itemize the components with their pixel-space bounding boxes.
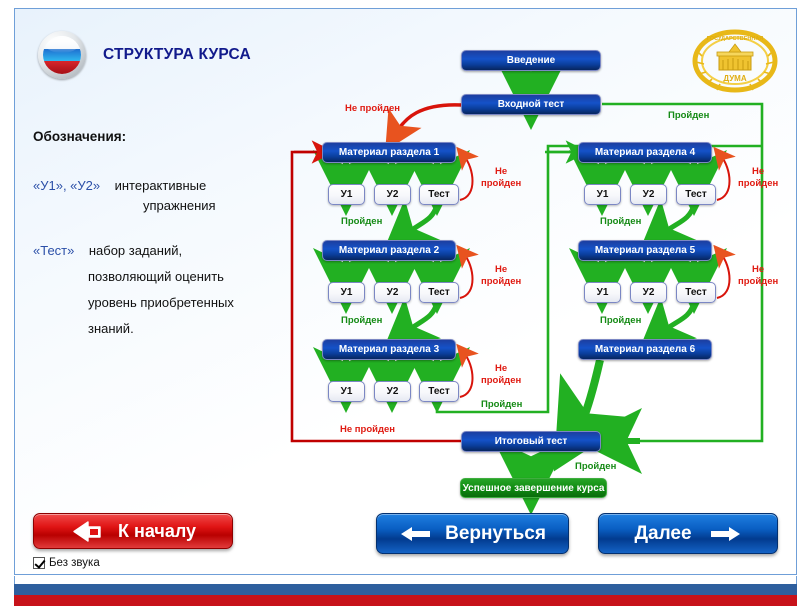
legend-item-2: «Тест» набор заданий,	[33, 243, 182, 258]
node-section-5-label: Материал раздела 5	[595, 245, 695, 256]
node-section-1[interactable]: Материал раздела 1	[322, 142, 456, 163]
sub-label: У2	[387, 189, 399, 200]
mute-checkbox[interactable]	[33, 557, 45, 569]
home-button[interactable]: К началу	[33, 513, 233, 549]
label-section-5-passed: Пройден	[600, 315, 641, 327]
page-title: СТРУКТУРА КУРСА	[103, 46, 251, 64]
node-section-2-label: Материал раздела 2	[339, 245, 439, 256]
slide-root: СТРУКТУРА КУРСА ГОСУДАРСТВЕННАЯ ДУМА Обо…	[0, 0, 811, 608]
label-text: Не	[752, 166, 764, 177]
node-success[interactable]: Успешное завершение курса	[460, 478, 607, 498]
sub-section-5-u1[interactable]: У1	[584, 282, 621, 303]
legend-item-2-text4: знаний.	[88, 321, 134, 336]
sub-label: У1	[341, 189, 353, 200]
label-text: Не	[752, 264, 764, 275]
sub-section-1-u1[interactable]: У1	[328, 184, 365, 205]
label-text: пройден	[481, 178, 521, 189]
label-text: Не	[495, 264, 507, 275]
sub-label: Тест	[428, 287, 450, 298]
sub-label: У1	[597, 189, 609, 200]
sub-section-2-test[interactable]: Тест	[419, 282, 459, 303]
label-section-1-failed: Не пройден	[481, 166, 521, 190]
label-section-1-passed: Пройден	[341, 216, 382, 228]
label-section-2-failed: Не пройден	[481, 264, 521, 288]
legend-item-1-text2: упражнения	[143, 198, 216, 213]
arrow-left-icon	[70, 520, 110, 542]
label-text: Пройден	[575, 461, 616, 472]
label-text: Пройден	[600, 315, 641, 326]
label-text: пройден	[738, 178, 778, 189]
sub-section-3-u1[interactable]: У1	[328, 381, 365, 402]
node-success-label: Успешное завершение курса	[463, 483, 605, 494]
sub-label: У2	[643, 189, 655, 200]
sub-label: У2	[387, 287, 399, 298]
label-entry-failed: Не пройден	[345, 103, 400, 115]
label-final-passed: Пройден	[575, 461, 616, 473]
label-text: пройден	[738, 276, 778, 287]
legend-item-1-key: «У1», «У2»	[33, 178, 100, 193]
label-text: пройден	[481, 375, 521, 386]
sub-label: Тест	[685, 287, 707, 298]
legend-item-2-text: набор заданий,	[89, 243, 182, 258]
svg-text:ГОСУДАРСТВЕННАЯ: ГОСУДАРСТВЕННАЯ	[707, 36, 764, 42]
legend-title: Обозначения:	[33, 129, 126, 144]
sub-section-5-u2[interactable]: У2	[630, 282, 667, 303]
node-section-2[interactable]: Материал раздела 2	[322, 240, 456, 261]
label-section-3-passed: Пройден	[481, 399, 522, 411]
label-text: Пройден	[668, 110, 709, 121]
legend-item-1: «У1», «У2» интерактивные	[33, 178, 206, 193]
label-text: пройден	[481, 276, 521, 287]
node-final-test-label: Итоговый тест	[495, 436, 568, 447]
label-section-2-passed: Пройден	[341, 315, 382, 327]
sub-label: У2	[387, 386, 399, 397]
label-section-4-passed: Пройден	[600, 216, 641, 228]
home-button-label: К началу	[118, 521, 196, 542]
label-text: Пройден	[341, 315, 382, 326]
mute-label: Без звука	[49, 557, 100, 569]
node-section-4[interactable]: Материал раздела 4	[578, 142, 712, 163]
arrow-right-icon	[708, 524, 742, 544]
label-text: Пройден	[481, 399, 522, 410]
node-entry-test-label: Входной тест	[498, 99, 565, 110]
label-text: Пройден	[341, 216, 382, 227]
node-intro[interactable]: Введение	[461, 50, 601, 71]
node-section-4-label: Материал раздела 4	[595, 147, 695, 158]
back-button[interactable]: Вернуться	[376, 513, 569, 554]
sub-section-5-test[interactable]: Тест	[676, 282, 716, 303]
sub-label: У1	[341, 386, 353, 397]
sub-label: У1	[597, 287, 609, 298]
state-duma-emblem-icon: ГОСУДАРСТВЕННАЯ ДУМА	[692, 28, 778, 94]
arrow-left-icon	[399, 524, 433, 544]
sub-section-4-test[interactable]: Тест	[676, 184, 716, 205]
frame-bottom-gap	[14, 576, 797, 584]
node-section-6-label: Материал раздела 6	[595, 344, 695, 355]
sub-label: Тест	[428, 386, 450, 397]
node-intro-label: Введение	[507, 55, 555, 66]
sub-label: Тест	[685, 189, 707, 200]
sub-section-2-u2[interactable]: У2	[374, 282, 411, 303]
node-section-3[interactable]: Материал раздела 3	[322, 339, 456, 360]
label-text: Не	[495, 363, 507, 374]
label-text: Не пройден	[345, 103, 400, 114]
label-text: Не пройден	[340, 424, 395, 435]
node-section-3-label: Материал раздела 3	[339, 344, 439, 355]
legend-item-2-key: «Тест»	[33, 243, 74, 258]
footer-stripe-red	[14, 595, 797, 606]
node-final-test[interactable]: Итоговый тест	[461, 431, 601, 452]
mute-checkbox-row[interactable]: Без звука	[33, 557, 100, 569]
sub-label: У2	[643, 287, 655, 298]
next-button[interactable]: Далее	[598, 513, 778, 554]
footer-stripe-blue	[14, 584, 797, 595]
node-section-6[interactable]: Материал раздела 6	[578, 339, 712, 360]
label-section-5-failed: Не пройден	[738, 264, 778, 288]
label-final-failed: Не пройден	[340, 424, 395, 436]
sub-section-1-test[interactable]: Тест	[419, 184, 459, 205]
russian-flag-icon	[38, 31, 86, 79]
legend-item-2-text3: уровень приобретенных	[88, 295, 234, 310]
sub-section-3-u2[interactable]: У2	[374, 381, 411, 402]
sub-section-3-test[interactable]: Тест	[419, 381, 459, 402]
label-text: Не	[495, 166, 507, 177]
legend-item-1-text: интерактивные	[115, 178, 207, 193]
sub-section-4-u1[interactable]: У1	[584, 184, 621, 205]
label-text: Пройден	[600, 216, 641, 227]
sub-section-2-u1[interactable]: У1	[328, 282, 365, 303]
node-section-5[interactable]: Материал раздела 5	[578, 240, 712, 261]
label-section-3-failed: Не пройден	[481, 363, 521, 387]
back-button-label: Вернуться	[445, 523, 546, 545]
sub-section-4-u2[interactable]: У2	[630, 184, 667, 205]
next-button-label: Далее	[634, 523, 691, 545]
node-section-1-label: Материал раздела 1	[339, 147, 439, 158]
label-section-4-failed: Не пройден	[738, 166, 778, 190]
label-entry-passed: Пройден	[668, 110, 709, 122]
svg-text:ДУМА: ДУМА	[723, 74, 746, 83]
legend-item-2-text2: позволяющий оценить	[88, 269, 224, 284]
node-entry-test[interactable]: Входной тест	[461, 94, 601, 115]
sub-section-1-u2[interactable]: У2	[374, 184, 411, 205]
sub-label: У1	[341, 287, 353, 298]
sub-label: Тест	[428, 189, 450, 200]
